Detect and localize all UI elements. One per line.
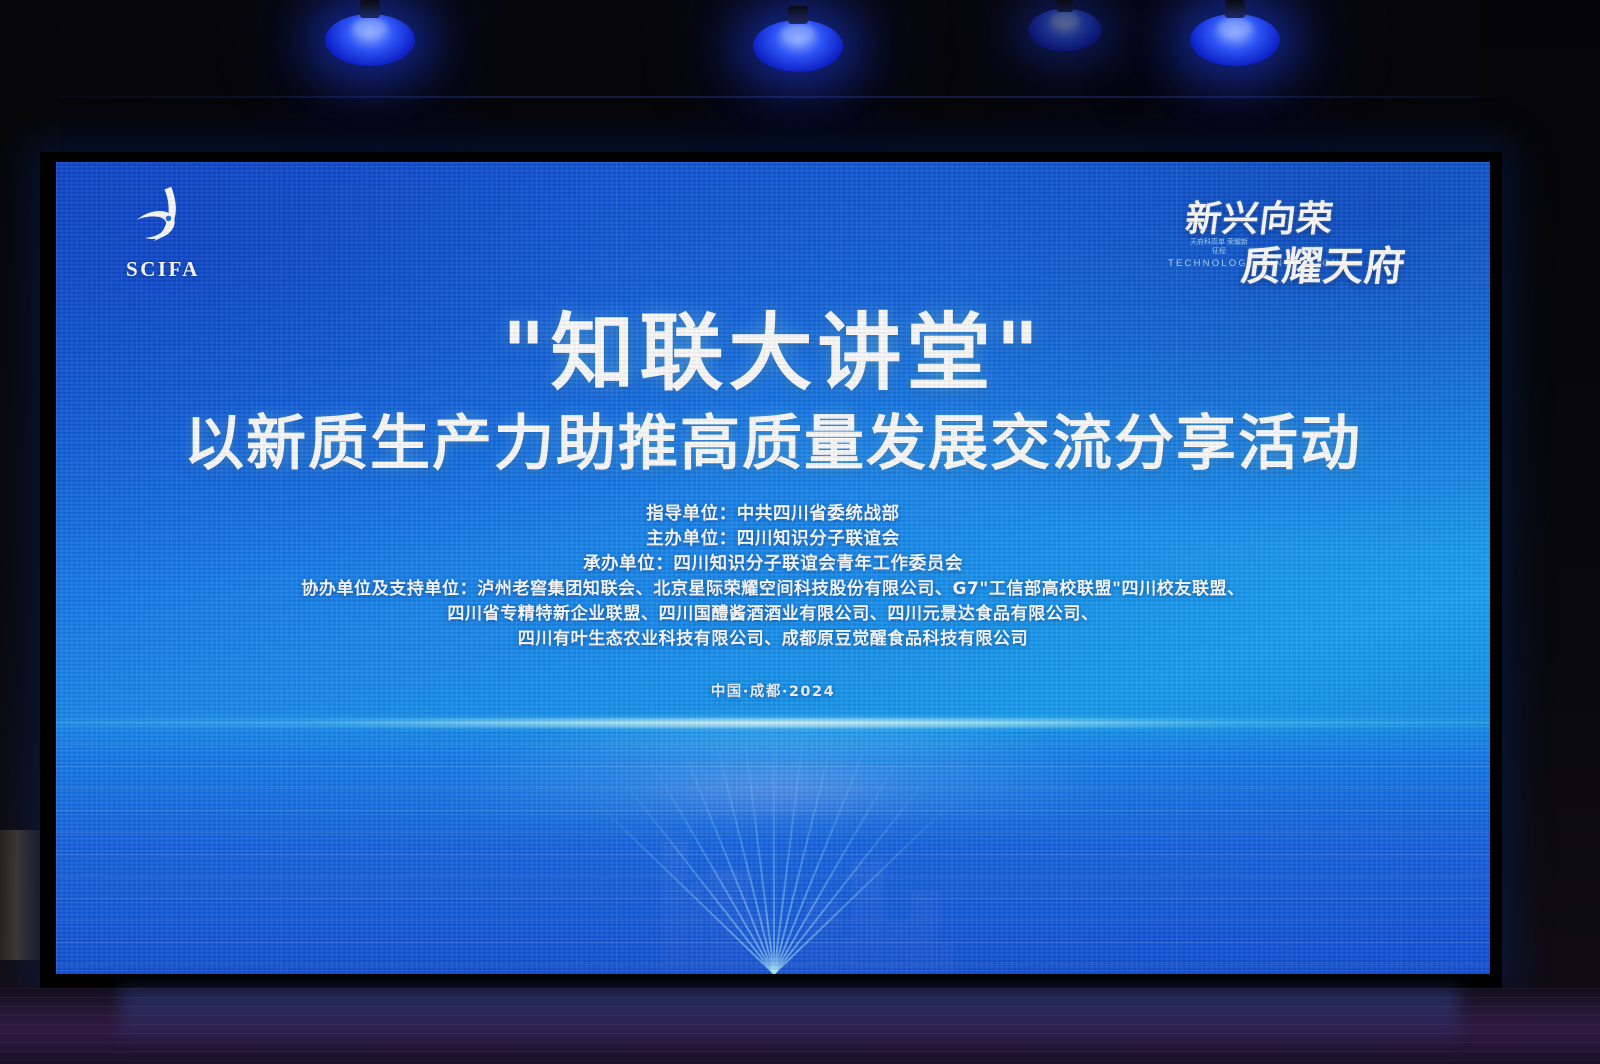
organizer-credits: 指导单位：中共四川省委统战部 主办单位：四川知识分子联谊会 承办单位：四川知识分… [56, 502, 1490, 652]
ceiling-light [1028, 9, 1102, 52]
ceiling-light [325, 14, 415, 66]
ceiling-light [753, 20, 843, 72]
credit-line: 主办单位：四川知识分子联谊会 [56, 527, 1490, 552]
conference-hall-room: SCIFA 新兴向荣 天府科高单 荣耀新征程 TECHNOLOGY INNOVA… [0, 0, 1600, 1064]
lamp-inner-glow [1218, 18, 1252, 38]
event-datestamp: 中国·成都·2024 [56, 680, 1490, 701]
campaign-logo-sub-cn: 天府科高单 荣耀新征程 [1190, 238, 1248, 256]
screen-content: SCIFA 新兴向荣 天府科高单 荣耀新征程 TECHNOLOGY INNOVA… [56, 162, 1490, 974]
scifa-wordmark: SCIFA [104, 257, 222, 282]
campaign-logo-line2: 质耀天府 [1238, 234, 1409, 292]
scifa-logo: SCIFA [104, 184, 222, 282]
credit-line: 承办单位：四川知识分子联谊会青年工作委员会 [56, 552, 1490, 577]
event-title: "知联大讲堂" [56, 286, 1490, 407]
campaign-logo: 新兴向荣 天府科高单 荣耀新征程 TECHNOLOGY INNOVATION 质… [1164, 190, 1464, 298]
credit-line: 四川省专精特新企业联盟、四川国醴酱酒酒业有限公司、四川元景达食品有限公司、 [56, 602, 1490, 627]
event-subtitle: 以新质生产力助推高质量发展交流分享活动 [56, 395, 1490, 482]
door-frame [0, 830, 42, 960]
led-screen: SCIFA 新兴向荣 天府科高单 荣耀新征程 TECHNOLOGY INNOVA… [56, 162, 1490, 974]
lamp-inner-glow [353, 18, 387, 38]
lamp-inner-glow [1051, 12, 1079, 28]
credit-line: 协办单位及支持单位：泸州老窖集团知联会、北京星际荣耀空间科技股份有限公司、G7"… [56, 577, 1490, 602]
lamp-inner-glow [781, 24, 815, 44]
credit-line: 指导单位：中共四川省委统战部 [56, 502, 1490, 527]
credit-line: 四川有叶生态农业科技有限公司、成都原豆觉醒食品科技有限公司 [56, 627, 1490, 652]
wall-seam [0, 96, 1600, 98]
scifa-swoosh-icon [128, 184, 198, 250]
ceiling-light [1190, 14, 1280, 66]
stage-wood-grain [0, 988, 1600, 1064]
stage-floor [0, 988, 1600, 1064]
